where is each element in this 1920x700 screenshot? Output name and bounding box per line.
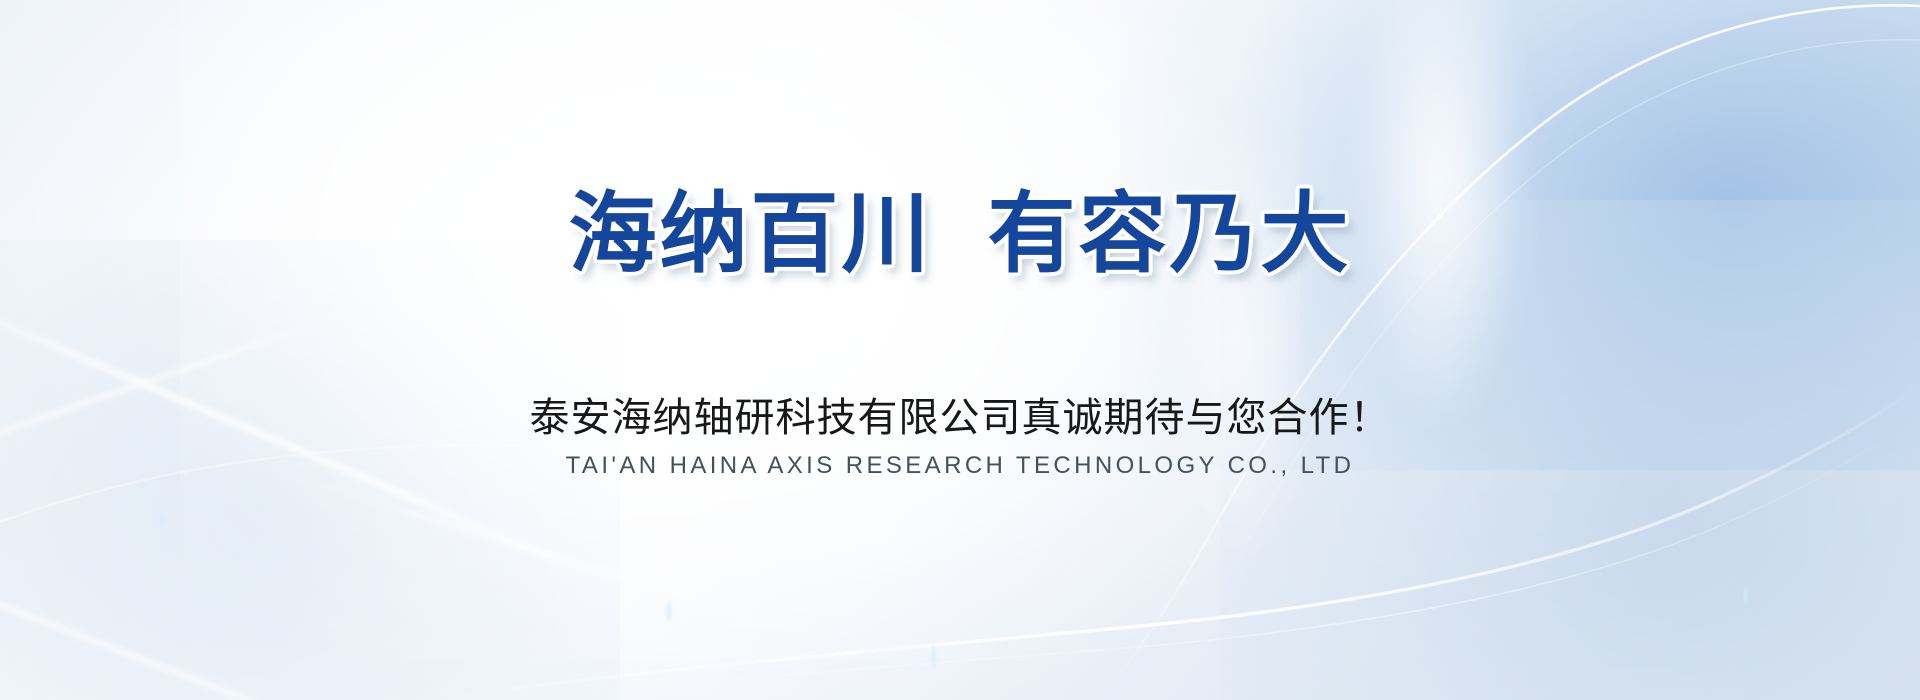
hero-banner: 海纳百川 有容乃大 泰安海纳轴研科技有限公司真诚期待与您合作！ TAI'AN H… xyxy=(0,0,1920,700)
banner-subtitle-en: TAI'AN HAINA AXIS RESEARCH TECHNOLOGY CO… xyxy=(0,452,1920,481)
banner-headline: 海纳百川 有容乃大 xyxy=(0,186,1920,283)
banner-subtitle-cn: 泰安海纳轴研科技有限公司真诚期待与您合作！ xyxy=(0,394,1920,442)
banner-content: 海纳百川 有容乃大 泰安海纳轴研科技有限公司真诚期待与您合作！ TAI'AN H… xyxy=(0,0,1920,700)
